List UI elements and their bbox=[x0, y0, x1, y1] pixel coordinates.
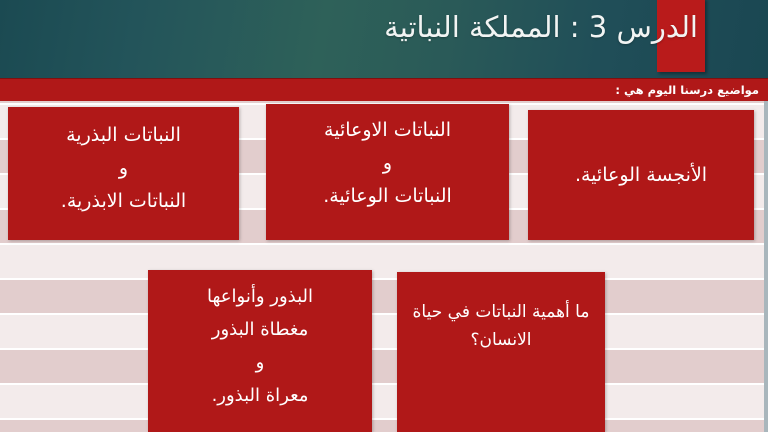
topic-card-seeds-types[interactable]: البذور وأنواعها مغطاة البذور و معراة الب… bbox=[148, 270, 372, 432]
topic-line: الأنجسة الوعائية. bbox=[575, 159, 707, 191]
topic-card-vascular-plants[interactable]: النباتات الاوعائية و النباتات الوعائية. bbox=[266, 104, 509, 240]
topic-line: النباتات الابذرية. bbox=[61, 185, 186, 218]
topic-line: النباتات البذرية bbox=[66, 119, 181, 152]
topic-line: النباتات الوعائية. bbox=[323, 180, 452, 213]
subtitle-banner: مواضيع درسنا اليوم هي : bbox=[0, 78, 768, 101]
slide-canvas: الدرس 3 : المملكة النباتية مواضيع درسنا … bbox=[0, 0, 768, 432]
topic-line: و bbox=[256, 346, 265, 379]
topic-line: مغطاة البذور bbox=[212, 313, 308, 346]
topic-card-importance[interactable]: ما أهمية النباتات في حياة الانسان؟ bbox=[397, 272, 605, 432]
topic-card-vascular-tissue[interactable]: الأنجسة الوعائية. bbox=[528, 110, 754, 240]
page-title: الدرس 3 : المملكة النباتية bbox=[384, 7, 698, 47]
topic-line: و bbox=[119, 152, 128, 185]
topic-line: النباتات الاوعائية bbox=[324, 114, 451, 147]
topic-line: ما أهمية النباتات في حياة الانسان؟ bbox=[397, 298, 605, 354]
topic-card-seed-plants[interactable]: النباتات البذرية و النباتات الابذرية. bbox=[8, 107, 239, 240]
subtitle-banner-text: مواضيع درسنا اليوم هي : bbox=[615, 82, 759, 98]
slide-header-band: الدرس 3 : المملكة النباتية bbox=[0, 0, 768, 78]
topic-line: معراة البذور. bbox=[212, 379, 309, 412]
topic-line: البذور وأنواعها bbox=[207, 280, 313, 313]
topic-line: و bbox=[383, 147, 392, 180]
